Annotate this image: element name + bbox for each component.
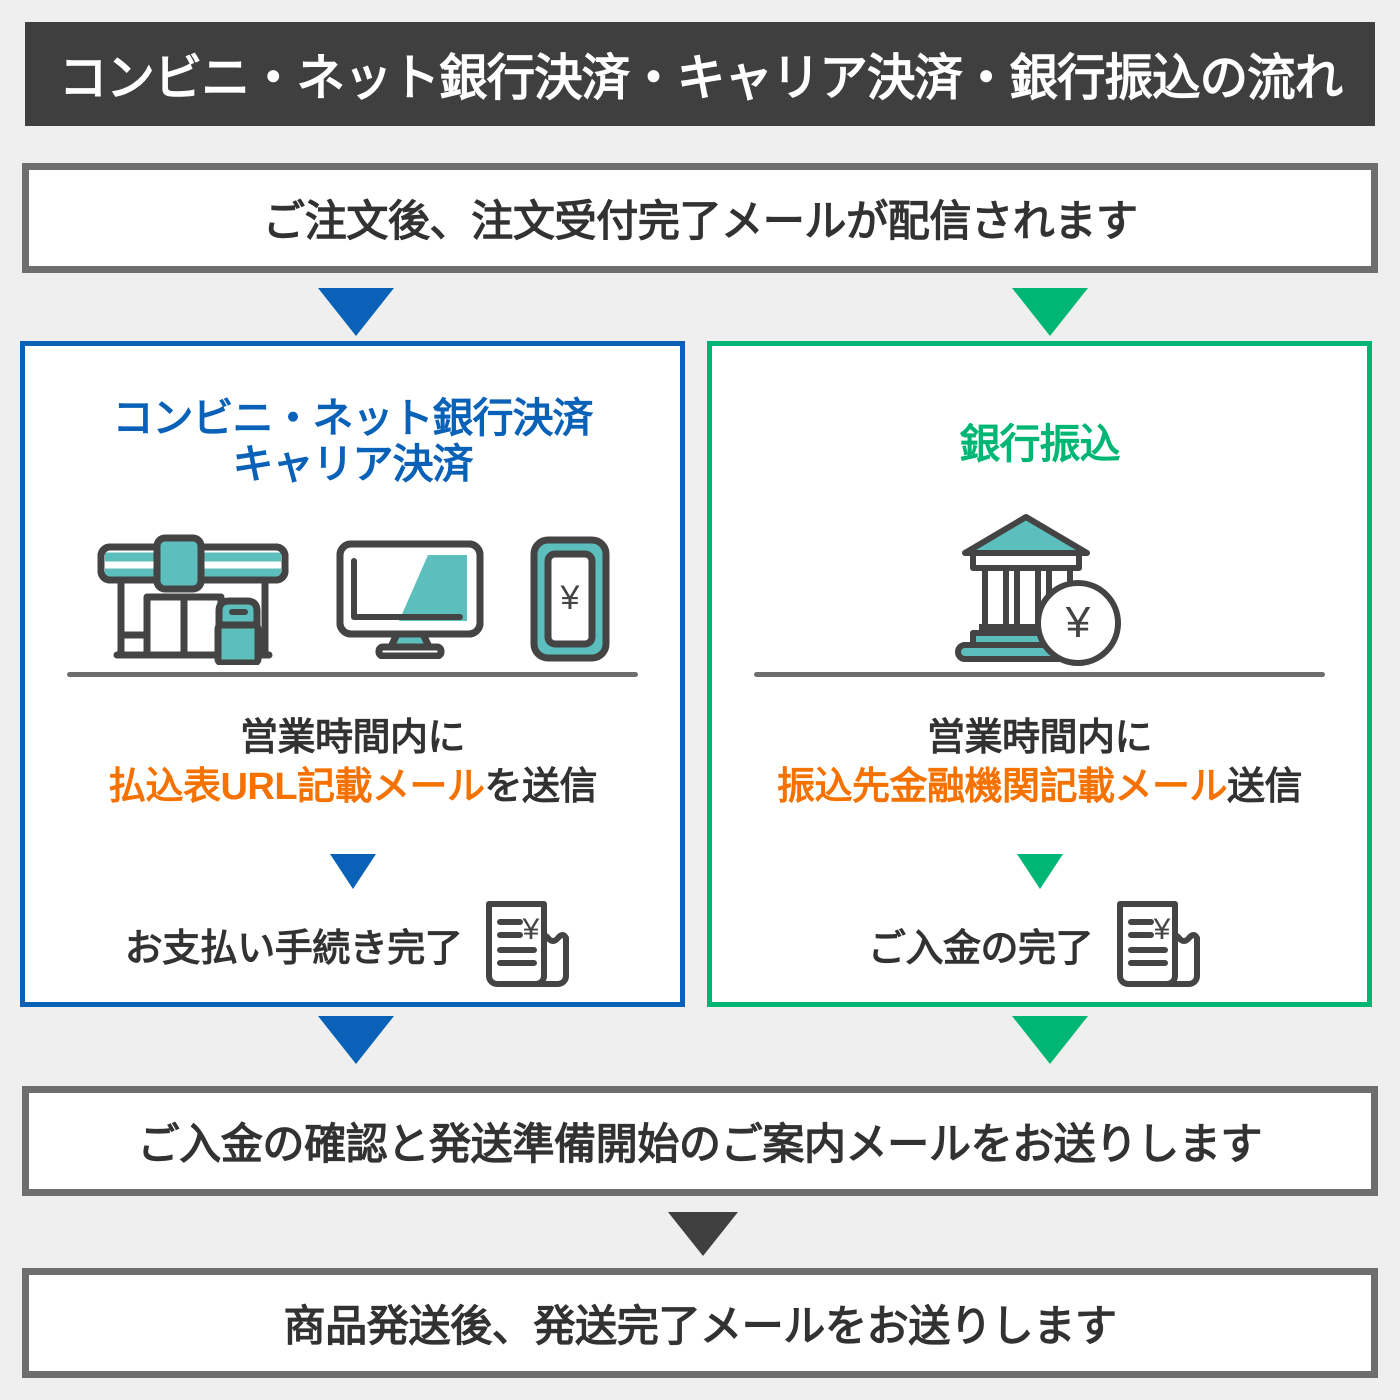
- svg-text:¥: ¥: [559, 579, 579, 617]
- svg-text:¥: ¥: [522, 913, 540, 946]
- arrow-down-conbini-inner-icon: [330, 854, 376, 889]
- convenience-store-icon: [95, 533, 291, 665]
- furikomi-divider: [754, 672, 1325, 677]
- diagram-header: コンビニ・ネット銀行決済・キャリア決済・銀行振込の流れ: [25, 22, 1375, 126]
- svg-text:¥: ¥: [1153, 913, 1171, 946]
- panel-conbini-payment: コンビニ・ネット銀行決済 キャリア決済: [20, 341, 685, 1007]
- step-payment-confirmed-mail: ご入金の確認と発送準備開始のご案内メールをお送りします: [22, 1086, 1378, 1196]
- conbini-divider: [67, 672, 638, 677]
- step-order-confirmation-mail: ご注文後、注文受付完了メールが配信されます: [22, 163, 1378, 273]
- furikomi-icon-row: ¥: [712, 501, 1367, 676]
- step4-label: ご入金の確認と発送準備開始のご案内メールをお送りします: [138, 1110, 1263, 1172]
- panel-conbini-title-line2: キャリア決済: [25, 442, 680, 488]
- step1-label: ご注文後、注文受付完了メールが配信されます: [263, 187, 1138, 249]
- furikomi-note: 営業時間内に 振込先金融機関記載メール送信: [712, 714, 1367, 811]
- furikomi-note-line1: 営業時間内に: [712, 714, 1367, 763]
- arrow-down-to-conbini-icon: [318, 288, 394, 336]
- conbini-note-line2: 払込表URL記載メールを送信: [25, 763, 680, 812]
- receipt-yen-icon: ¥: [1107, 898, 1211, 990]
- panel-conbini-title: コンビニ・ネット銀行決済 キャリア決済: [25, 396, 680, 488]
- conbini-done-label: お支払い手続き完了: [125, 917, 463, 972]
- step-shipping-complete-mail: 商品発送後、発送完了メールをお送りします: [22, 1268, 1378, 1378]
- conbini-note-line1: 営業時間内に: [25, 714, 680, 763]
- conbini-note: 営業時間内に 払込表URL記載メールを送信: [25, 714, 680, 811]
- smartphone-yen-icon: ¥: [529, 535, 611, 663]
- furikomi-done-row: ご入金の完了 ¥: [712, 898, 1367, 990]
- furikomi-inner-arrow-wrap: [712, 854, 1367, 889]
- furikomi-note-highlight: 振込先金融機関記載メール: [777, 766, 1227, 808]
- panel-conbini-title-line1: コンビニ・ネット銀行決済: [25, 396, 680, 442]
- panel-furikomi-title-line1: 銀行振込: [712, 422, 1367, 468]
- step5-label: 商品発送後、発送完了メールをお送りします: [284, 1292, 1117, 1354]
- arrow-down-furikomi-inner-icon: [1017, 854, 1063, 889]
- arrow-down-final-icon: [668, 1212, 738, 1256]
- bank-yen-icon: ¥: [951, 509, 1129, 669]
- svg-text:¥: ¥: [1064, 598, 1090, 647]
- conbini-inner-arrow-wrap: [25, 854, 680, 889]
- panel-furikomi-title: 銀行振込: [712, 422, 1367, 468]
- furikomi-done-label: ご入金の完了: [868, 917, 1093, 972]
- conbini-done-row: お支払い手続き完了 ¥: [25, 898, 680, 990]
- furikomi-note-tail: 送信: [1227, 766, 1302, 808]
- desktop-monitor-icon: [335, 539, 485, 659]
- receipt-yen-icon: ¥: [476, 898, 580, 990]
- furikomi-note-line2: 振込先金融機関記載メール送信: [712, 763, 1367, 812]
- arrow-down-furikomi-out-icon: [1012, 1016, 1088, 1064]
- payment-flow-diagram: コンビニ・ネット銀行決済・キャリア決済・銀行振込の流れ ご注文後、注文受付完了メ…: [0, 0, 1400, 1400]
- conbini-note-tail: を送信: [485, 766, 598, 808]
- conbini-icon-row: ¥: [25, 524, 680, 674]
- conbini-note-highlight: 払込表URL記載メール: [108, 766, 485, 808]
- arrow-down-to-furikomi-icon: [1012, 288, 1088, 336]
- arrow-down-conbini-out-icon: [318, 1016, 394, 1064]
- panel-bank-transfer: 銀行振込: [707, 341, 1372, 1007]
- page-title: コンビニ・ネット銀行決済・キャリア決済・銀行振込の流れ: [58, 38, 1341, 110]
